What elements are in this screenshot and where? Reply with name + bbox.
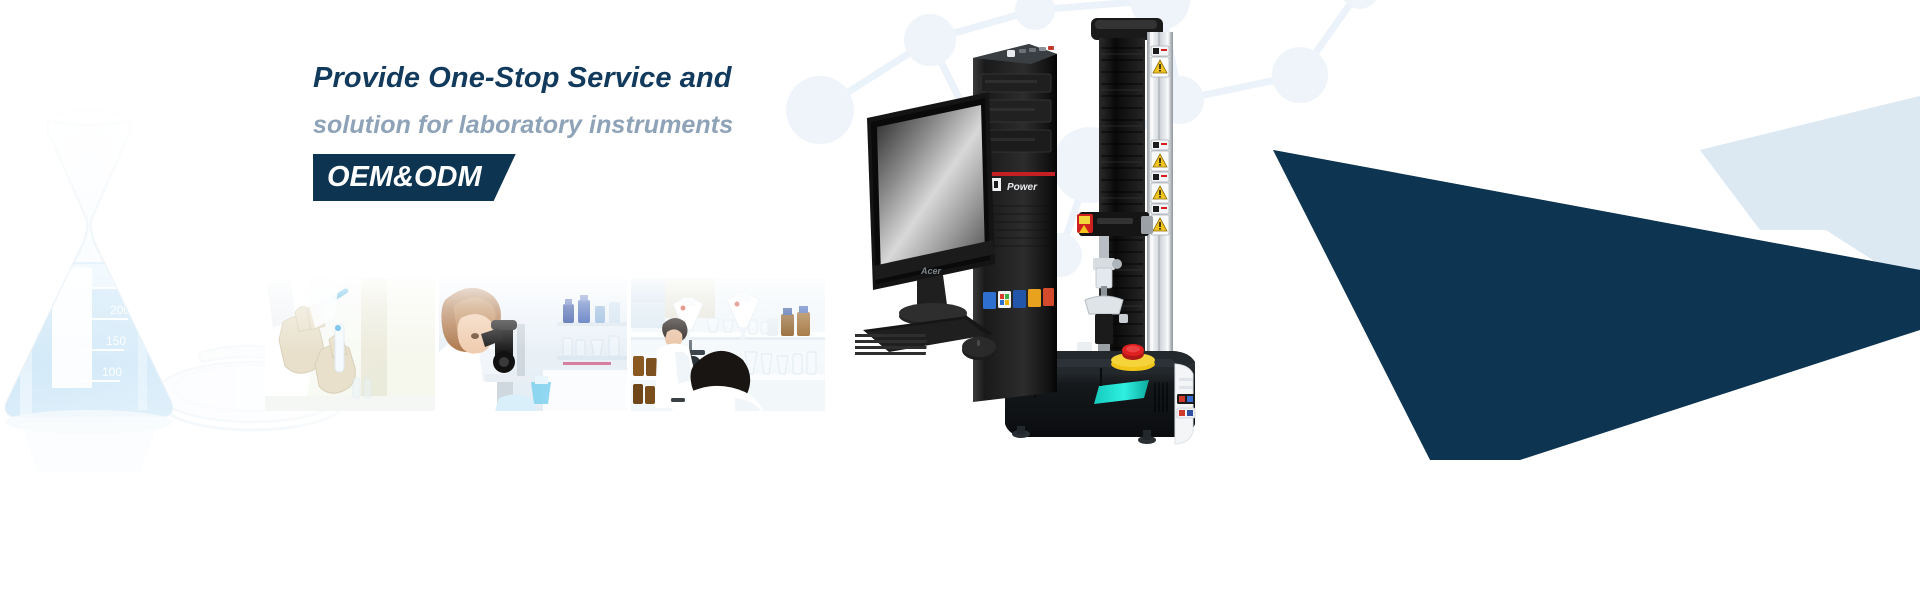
photo-lab-bench xyxy=(631,278,825,411)
headline-block: Provide One-Stop Service and solution fo… xyxy=(313,56,953,201)
light-blue-wedge xyxy=(1700,96,1920,290)
oem-odm-badge: OEM&ODM xyxy=(313,154,516,201)
svg-text:200: 200 xyxy=(110,303,130,317)
svg-text:250: 250 xyxy=(114,272,134,286)
dark-navy-arrow xyxy=(1273,150,1920,460)
headline-line-1: Provide One-Stop Service and xyxy=(313,56,953,100)
headline-line-2: solution for laboratory instruments xyxy=(313,102,953,148)
lab-photo-strip xyxy=(265,278,825,411)
photo-pipetting xyxy=(265,278,435,411)
svg-text:Power: Power xyxy=(1007,182,1038,193)
svg-text:mL: mL xyxy=(74,263,89,275)
svg-text:100: 100 xyxy=(102,365,122,379)
svg-text:150: 150 xyxy=(106,334,126,348)
hero-banner: 300 250 200 150 100 mL xyxy=(0,0,1920,597)
decorative-arrow-shapes xyxy=(1200,0,1920,460)
svg-text:300: 300 xyxy=(118,239,138,253)
warning-labels xyxy=(1151,46,1169,235)
oem-odm-badge-wrapper: OEM&ODM xyxy=(313,154,516,201)
svg-text:Acer: Acer xyxy=(920,266,942,276)
photo-microscope xyxy=(439,278,627,411)
